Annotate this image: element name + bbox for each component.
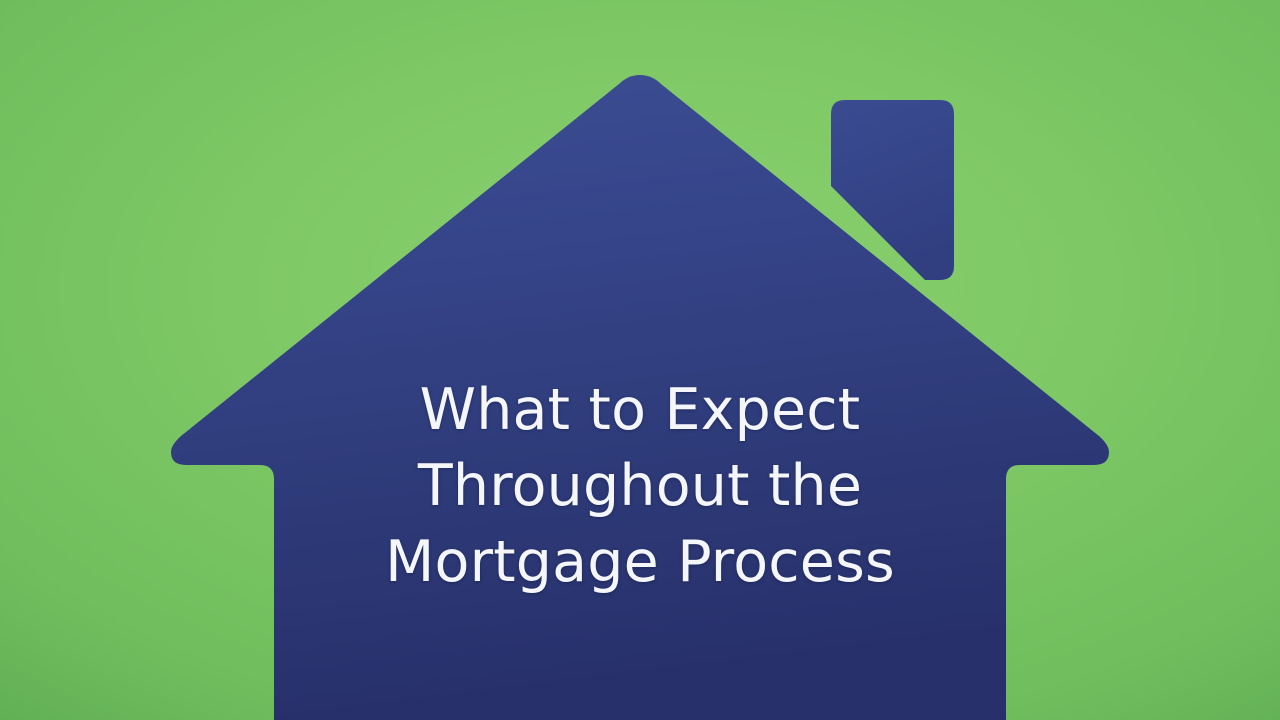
house-illustration — [0, 0, 1280, 720]
house-body-shape — [171, 75, 1109, 720]
title-slide: What to Expect Throughout the Mortgage P… — [0, 0, 1280, 720]
